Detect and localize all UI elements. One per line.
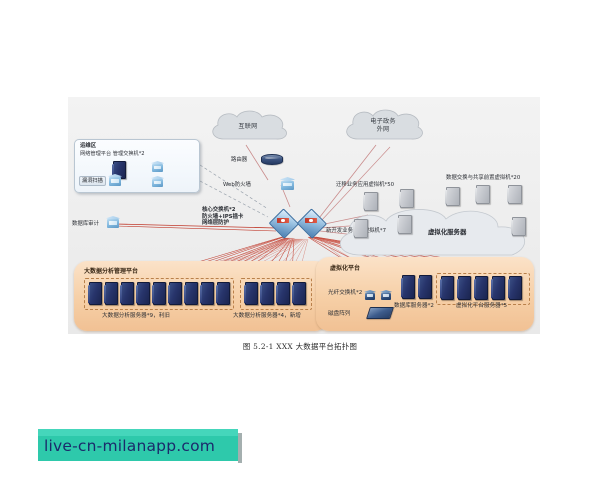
virtualization-platform-server-icon [441,276,454,300]
cloud-internet-label: 互联网 [206,107,290,147]
bigdata-server-icon [217,282,230,305]
database-audit-icon [106,216,120,229]
web-firewall-icon [280,177,295,191]
router-label: 路由器 [231,157,247,164]
cloud-egov-extranet: 电子政务 外网 [340,105,426,147]
fc-switch-label: 光纤交换机*2 [328,290,362,297]
fc-switch-icon-2 [380,290,392,301]
virtualization-servers-label: 虚拟化服务器 [428,229,466,236]
bigdata-server-icon [89,282,102,305]
disk-array-icon [366,307,394,319]
vm-server-icon-1 [364,192,378,211]
core-switch-line1: 核心交换机*2 [202,207,272,214]
bigdata-server-icon [277,282,290,305]
vm-server-icon-2 [400,189,414,208]
watermark-text: live-cn-milanapp.com [44,436,234,456]
fc-switch-icon-1 [364,290,376,301]
watermark-band-highlight [38,429,238,436]
virtualization-platform-server-icon [509,276,522,300]
virtualization-platform-title: 虚拟化平台 [330,263,360,272]
bigdata-server-icon [121,282,134,305]
vulnerability-scan-icon [108,174,122,187]
migrate-vm-label: 迁移业务应用虚拟机*50 [336,182,394,189]
virtualization-platform-server-icon [458,276,471,300]
database-server-label: 数据库服务器*2 [394,303,434,310]
core-switch-icon-2 [298,209,324,235]
bigdata-server-icon [105,282,118,305]
network-topology-diagram: 互联网 电子政务 外网 运维区 网络管理平台 管理交换机*2 [68,97,540,334]
database-server-icon [419,275,432,299]
bigdata-group-right-label: 大数据分析服务器*4，新增 [233,313,301,320]
watermark-band-shadow [238,433,242,463]
bigdata-server-icon [169,282,182,305]
core-switch-line3: 网络层防护 [202,220,272,227]
web-firewall-label: Web防火墙 [223,182,251,189]
exchange-vm-label: 数据交换与共享前置虚拟机*20 [446,175,520,182]
vm-server-icon-7 [398,215,412,234]
mgmt-zone-line2: 网络管理平台 管理交换机*2 [80,151,145,158]
bigdata-platform-title: 大数据分析管理平台 [84,266,138,275]
bigdata-server-icon [153,282,166,305]
cloud-internet: 互联网 [206,107,290,147]
vulnerability-scan-label: 漏洞扫描 [79,176,106,186]
router-icon [261,154,283,165]
bigdata-server-icon [245,282,258,305]
vm-server-icon-8 [512,217,526,236]
bigdata-server-icon [261,282,274,305]
management-switch-icon-1 [151,161,164,173]
bigdata-group-left-label: 大数据分析服务器*9，利旧 [102,313,170,320]
database-server-icon [402,275,415,299]
bigdata-platform-panel: 大数据分析管理平台 大数据分析服务器*9，利旧 大数据分析服务器*4，新增 [74,261,328,331]
core-switch-icon-1 [270,209,296,235]
core-switch-label-group: 核心交换机*2 防火墙+IPS插卡 网络层防护 [202,207,272,227]
figure-caption: 图 5.2-1 XXX 大数据平台拓扑图 [0,341,600,352]
database-audit-label: 数据库审计 [72,221,99,228]
bigdata-server-icon [293,282,306,305]
vm-server-icon-6 [354,219,368,238]
bigdata-server-icon [137,282,150,305]
bigdata-server-icon [185,282,198,305]
management-switch-icon-2 [151,176,164,188]
virtualization-server-label: 虚拟化平台服务器*5 [456,303,507,310]
cloud-egov-label: 电子政务 外网 [340,105,426,147]
disk-array-label: 磁盘阵列 [328,311,350,318]
mgmt-zone-title: 运维区 [80,143,96,150]
screenshot-root: 互联网 电子政务 外网 运维区 网络管理平台 管理交换机*2 [0,0,600,480]
vm-server-icon-5 [508,185,522,204]
virtualization-platform-server-icon [492,276,505,300]
virtualization-platform-panel: 虚拟化平台 数据库服务器*2 虚拟化平台服务器*5 光纤交换机*2 磁盘阵列 [316,257,534,331]
vm-server-icon-4 [476,185,490,204]
management-zone-box: 运维区 网络管理平台 管理交换机*2 漏洞扫描 [74,139,200,193]
vm-server-icon-3 [446,187,460,206]
bigdata-server-icon [201,282,214,305]
virtualization-platform-server-icon [475,276,488,300]
